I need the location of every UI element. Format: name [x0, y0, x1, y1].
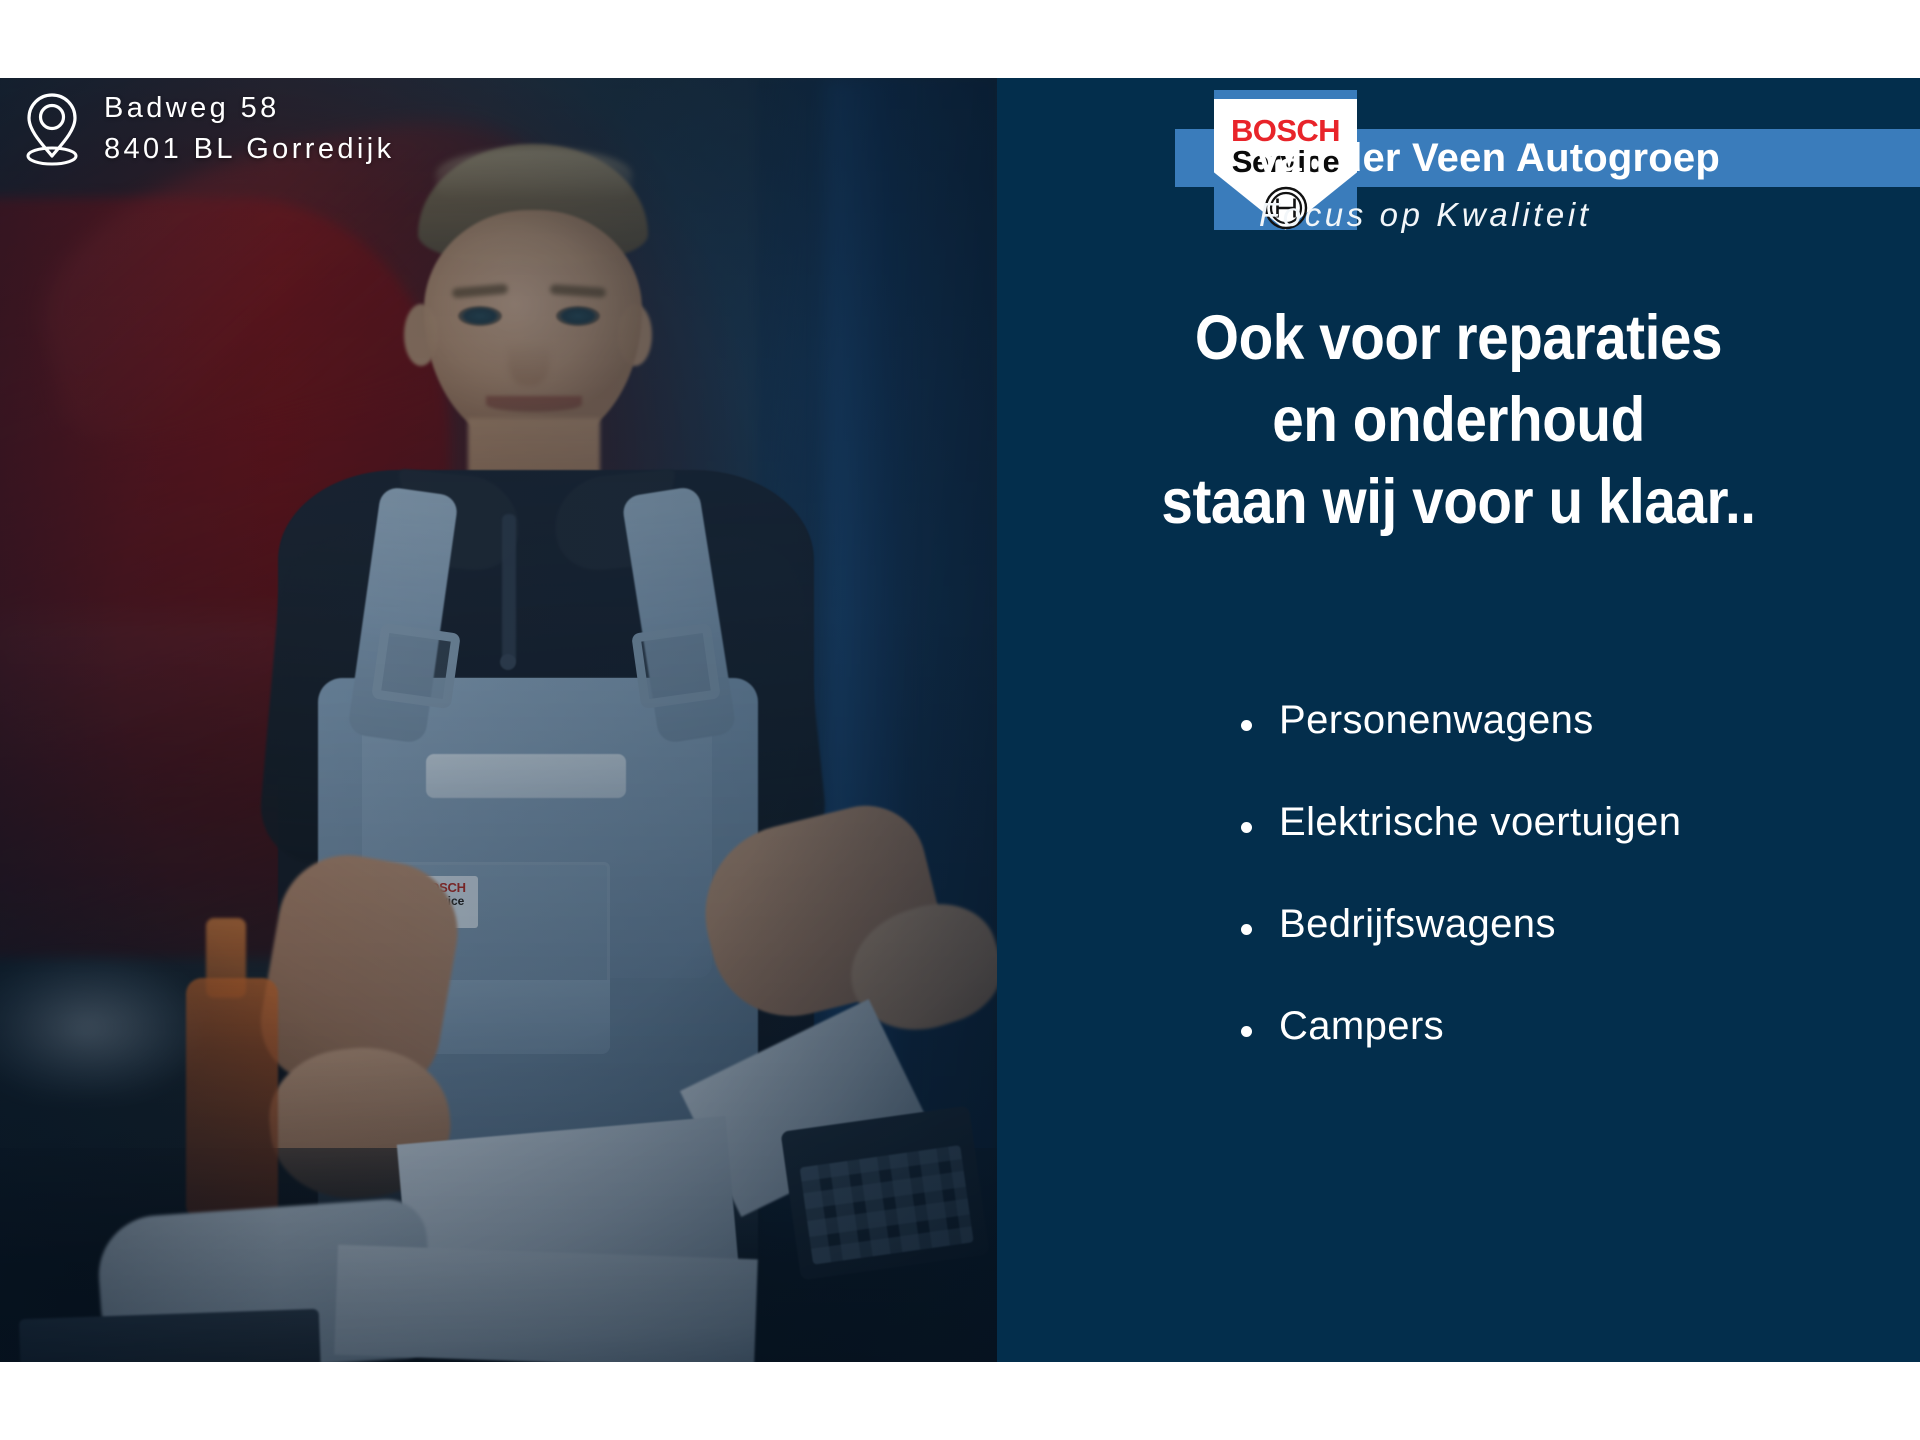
- workshop-photo: BOSCH Service FF: [0, 78, 997, 1362]
- headline: Ook voor reparaties en onderhoud staan w…: [1043, 298, 1874, 544]
- map-pin-icon: [22, 90, 82, 168]
- address-text: Badweg 58 8401 BL Gorredijk: [104, 88, 394, 170]
- list-item: Campers: [1237, 1004, 1897, 1049]
- photo-vignette: [0, 78, 997, 1362]
- info-panel: BOSCH Service van der Veen Autogroep Foc…: [997, 78, 1920, 1362]
- list-item: Personenwagens: [1237, 698, 1897, 743]
- headline-line-3: staan wij voor u klaar..: [1043, 462, 1874, 544]
- headline-line-1: Ook voor reparaties: [1043, 298, 1874, 380]
- advertisement-banner: BOSCH Service FF: [0, 0, 1920, 1440]
- company-name: van der Veen Autogroep: [1257, 133, 1877, 183]
- list-item: Bedrijfswagens: [1237, 902, 1897, 947]
- banner-content: BOSCH Service FF: [0, 78, 1920, 1362]
- list-item: Elektrische voertuigen: [1237, 800, 1897, 845]
- address-street: Badweg 58: [104, 88, 394, 129]
- services-list: Personenwagens Elektrische voertuigen Be…: [1237, 698, 1897, 1106]
- company-tagline: Focus op Kwaliteit: [1259, 196, 1592, 234]
- headline-line-2: en onderhoud: [1043, 380, 1874, 462]
- address-city: 8401 BL Gorredijk: [104, 129, 394, 170]
- address-block: Badweg 58 8401 BL Gorredijk: [22, 88, 394, 170]
